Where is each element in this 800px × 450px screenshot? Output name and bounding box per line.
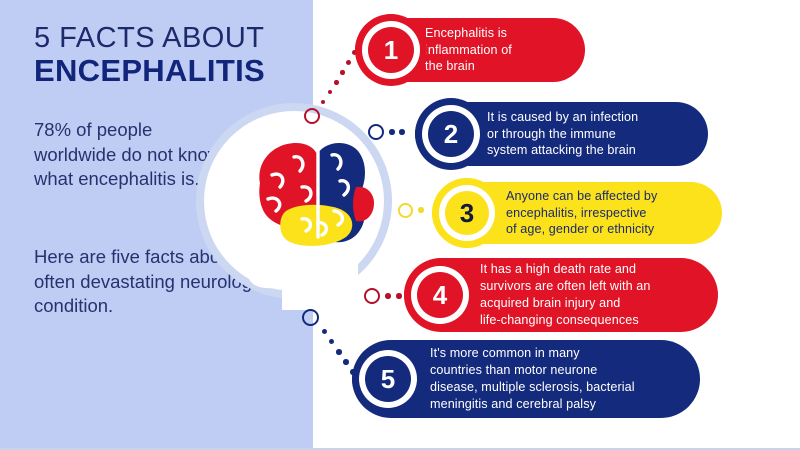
connector-ring-1 bbox=[304, 108, 320, 124]
connector-ring-2 bbox=[368, 124, 384, 140]
connector-ring-5 bbox=[302, 309, 319, 326]
fact-number-3: 3 bbox=[460, 200, 474, 226]
fact-text-3: Anyone can be affected by encephalitis, … bbox=[506, 188, 657, 239]
fact-text-2: It is caused by an infection or through … bbox=[487, 109, 638, 160]
fact-badge-core-1: 1 bbox=[368, 27, 414, 73]
fact-item-4[interactable]: It has a high death rate and survivors a… bbox=[404, 258, 718, 332]
fact-badge-2[interactable]: 2 bbox=[415, 98, 487, 170]
title-line-2: ENCEPHALITIS bbox=[34, 54, 304, 89]
fact-text-4: It has a high death rate and survivors a… bbox=[480, 261, 651, 329]
fact-badge-5[interactable]: 5 bbox=[352, 343, 424, 415]
brain-lobe-red-right bbox=[353, 187, 374, 222]
connector-ring-3 bbox=[398, 203, 413, 218]
fact-number-5: 5 bbox=[381, 366, 395, 392]
fact-badge-core-3: 3 bbox=[445, 191, 489, 235]
connector-dot bbox=[418, 207, 424, 213]
fact-badge-core-2: 2 bbox=[428, 111, 474, 157]
page-title: 5 FACTS ABOUT ENCEPHALITIS bbox=[34, 22, 304, 89]
connector-dot bbox=[328, 90, 332, 94]
fact-badge-3[interactable]: 3 bbox=[432, 178, 502, 248]
fact-text-5: It's more common in many countries than … bbox=[430, 345, 635, 413]
connector-dot bbox=[336, 349, 342, 355]
fact-number-4: 4 bbox=[433, 282, 447, 308]
connector-dot bbox=[346, 60, 351, 65]
fact-number-1: 1 bbox=[384, 37, 398, 63]
fact-badge-core-4: 4 bbox=[417, 272, 463, 318]
title-line-1: 5 FACTS ABOUT bbox=[34, 22, 304, 54]
fact-item-3[interactable]: Anyone can be affected by encephalitis, … bbox=[432, 182, 722, 244]
fact-badge-core-5: 5 bbox=[365, 356, 411, 402]
connector-dot bbox=[396, 293, 402, 299]
connector-dot bbox=[334, 80, 339, 85]
fact-badge-4[interactable]: 4 bbox=[404, 259, 476, 331]
fact-item-1[interactable]: Encephalitis is inflammation of the brai… bbox=[355, 18, 585, 82]
connector-ring-4 bbox=[364, 288, 380, 304]
fact-item-2[interactable]: It is caused by an infection or through … bbox=[415, 102, 708, 166]
fact-badge-1[interactable]: 1 bbox=[355, 14, 427, 86]
connector-dot bbox=[343, 359, 349, 365]
connector-dot bbox=[385, 293, 391, 299]
fact-item-5[interactable]: It's more common in many countries than … bbox=[352, 340, 700, 418]
connector-dot bbox=[389, 129, 395, 135]
fact-text-1: Encephalitis is inflammation of the brai… bbox=[425, 25, 512, 76]
connector-dot bbox=[321, 100, 325, 104]
connector-dot bbox=[322, 329, 327, 334]
infographic-canvas: 5 FACTS ABOUT ENCEPHALITIS 78% of people… bbox=[0, 0, 800, 450]
connector-dot bbox=[399, 129, 405, 135]
connector-dot bbox=[340, 70, 345, 75]
connector-dot bbox=[329, 339, 334, 344]
fact-number-2: 2 bbox=[444, 121, 458, 147]
